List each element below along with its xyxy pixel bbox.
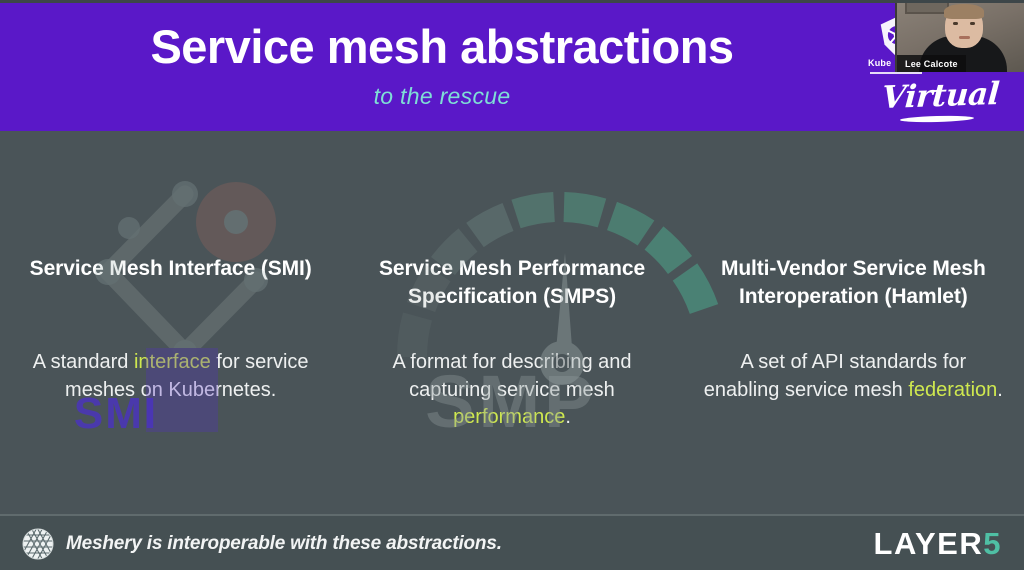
virtual-badge: Virtual	[874, 78, 1006, 130]
column-hamlet-body: A set of API standards for enabling serv…	[701, 349, 1006, 404]
column-smi: SMI Service Mesh Interface (SMI) A stand…	[0, 131, 341, 510]
column-hamlet-heading: Multi-Vendor Service Mesh Interoperation…	[709, 255, 998, 310]
column-smps-body: A format for describing and capturing se…	[359, 349, 664, 432]
footer-tagline: Meshery is interoperable with these abst…	[66, 516, 502, 570]
slide-body: SMI Service Mesh Interface (SMI) A stand…	[0, 131, 1024, 510]
speaker-webcam-overlay[interactable]: Lee Calcote	[895, 0, 1024, 72]
column-hamlet-body-after: .	[997, 379, 1003, 401]
virtual-label: Virtual	[880, 76, 1000, 116]
layer5-accent-five: 5	[983, 526, 1002, 562]
column-smi-body-before: A standard	[33, 351, 134, 373]
column-hamlet: Multi-Vendor Service Mesh Interoperation…	[683, 131, 1024, 510]
layer5-logo[interactable]: LAYER5	[874, 516, 1002, 570]
column-smi-heading: Service Mesh Interface (SMI)	[26, 255, 315, 283]
kubecon-divider	[870, 72, 922, 74]
slide-header: Service mesh abstractions to the rescue …	[0, 0, 1024, 131]
column-smps-keyword: performance	[453, 406, 565, 428]
slide-footer: Meshery is interoperable with these abst…	[0, 514, 1024, 570]
abstractions-columns: SMI Service Mesh Interface (SMI) A stand…	[0, 131, 1024, 510]
speaker-hair	[944, 4, 984, 19]
column-smps-body-after: .	[565, 406, 571, 428]
speaker-name-label: Lee Calcote	[897, 55, 966, 72]
column-smps-heading: Service Mesh Performance Specification (…	[367, 255, 656, 310]
slide-top-edge	[0, 0, 1024, 3]
speaker-eye-right	[970, 22, 975, 25]
speaker-eye-left	[953, 22, 958, 25]
column-smps-body-before: A format for describing and capturing se…	[392, 351, 631, 401]
speaker-mouth	[959, 36, 970, 39]
column-smi-keyword: interface	[134, 351, 211, 373]
meshery-mesh-icon	[22, 528, 54, 560]
smi-logo-watermark	[60, 176, 300, 486]
presentation-slide: Service mesh abstractions to the rescue …	[0, 0, 1024, 570]
column-smps: SMP Service Mesh Performance Specificati…	[341, 131, 682, 510]
column-hamlet-keyword: federation	[908, 379, 997, 401]
virtual-underline-swoosh	[900, 115, 974, 123]
column-smi-body: A standard interface for service meshes …	[18, 349, 323, 404]
layer5-wordmark: LAYER	[874, 526, 984, 562]
